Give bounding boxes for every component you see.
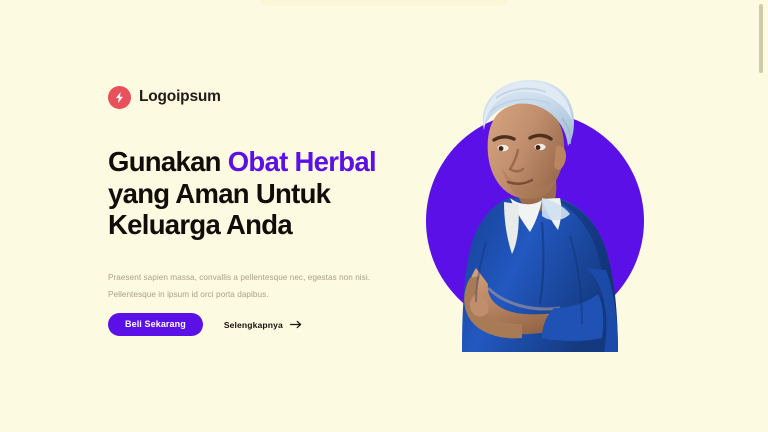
doctor-photo (446, 72, 636, 352)
headline-accent: Obat Herbal (228, 146, 376, 177)
subcopy-line1: Praesent sapien massa, convallis a pelle… (108, 273, 370, 282)
learn-more-label: Selengkapnya (224, 320, 283, 330)
headline-line1-plain: Gunakan (108, 146, 228, 177)
hero-subcopy: Praesent sapien massa, convallis a pelle… (108, 269, 398, 303)
hero-visual (418, 0, 768, 352)
headline-line2: yang Aman Untuk (108, 178, 330, 209)
brand-name: Logoipsum (139, 88, 221, 106)
headline-line3: Keluarga Anda (108, 209, 292, 240)
scrollbar[interactable] (755, 0, 768, 432)
scrollbar-thumb[interactable] (759, 4, 763, 73)
lightning-bolt-icon (108, 86, 131, 109)
page-title: Gunakan Obat Herbalyang Aman UntukKeluar… (108, 146, 448, 241)
brand-logo[interactable]: Logoipsum (108, 84, 438, 110)
buy-now-button[interactable]: Beli Sekarang (108, 313, 203, 336)
hero-left-column: Logoipsum Gunakan Obat Herbalyang Aman U… (108, 84, 438, 110)
cta-row: Beli Sekarang Selengkapnya (108, 313, 302, 336)
arrow-right-icon (290, 320, 302, 329)
subcopy-line2: Pellentesque in ipsum id orci porta dapi… (108, 290, 269, 299)
page-root: Logoipsum Gunakan Obat Herbalyang Aman U… (0, 0, 768, 432)
learn-more-link[interactable]: Selengkapnya (224, 320, 302, 330)
